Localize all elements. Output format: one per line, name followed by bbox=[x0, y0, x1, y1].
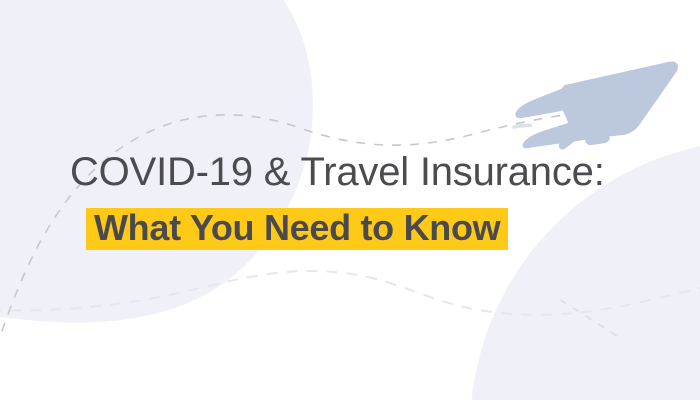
covid-travel-insurance-banner: COVID-19 & Travel Insurance: What You Ne… bbox=[0, 0, 700, 400]
headline-line-1: COVID-19 & Travel Insurance: bbox=[70, 152, 605, 192]
headline-line-2: What You Need to Know bbox=[94, 210, 500, 246]
headline-highlight-band: What You Need to Know bbox=[86, 208, 508, 250]
headline-block: COVID-19 & Travel Insurance: What You Ne… bbox=[0, 0, 700, 400]
